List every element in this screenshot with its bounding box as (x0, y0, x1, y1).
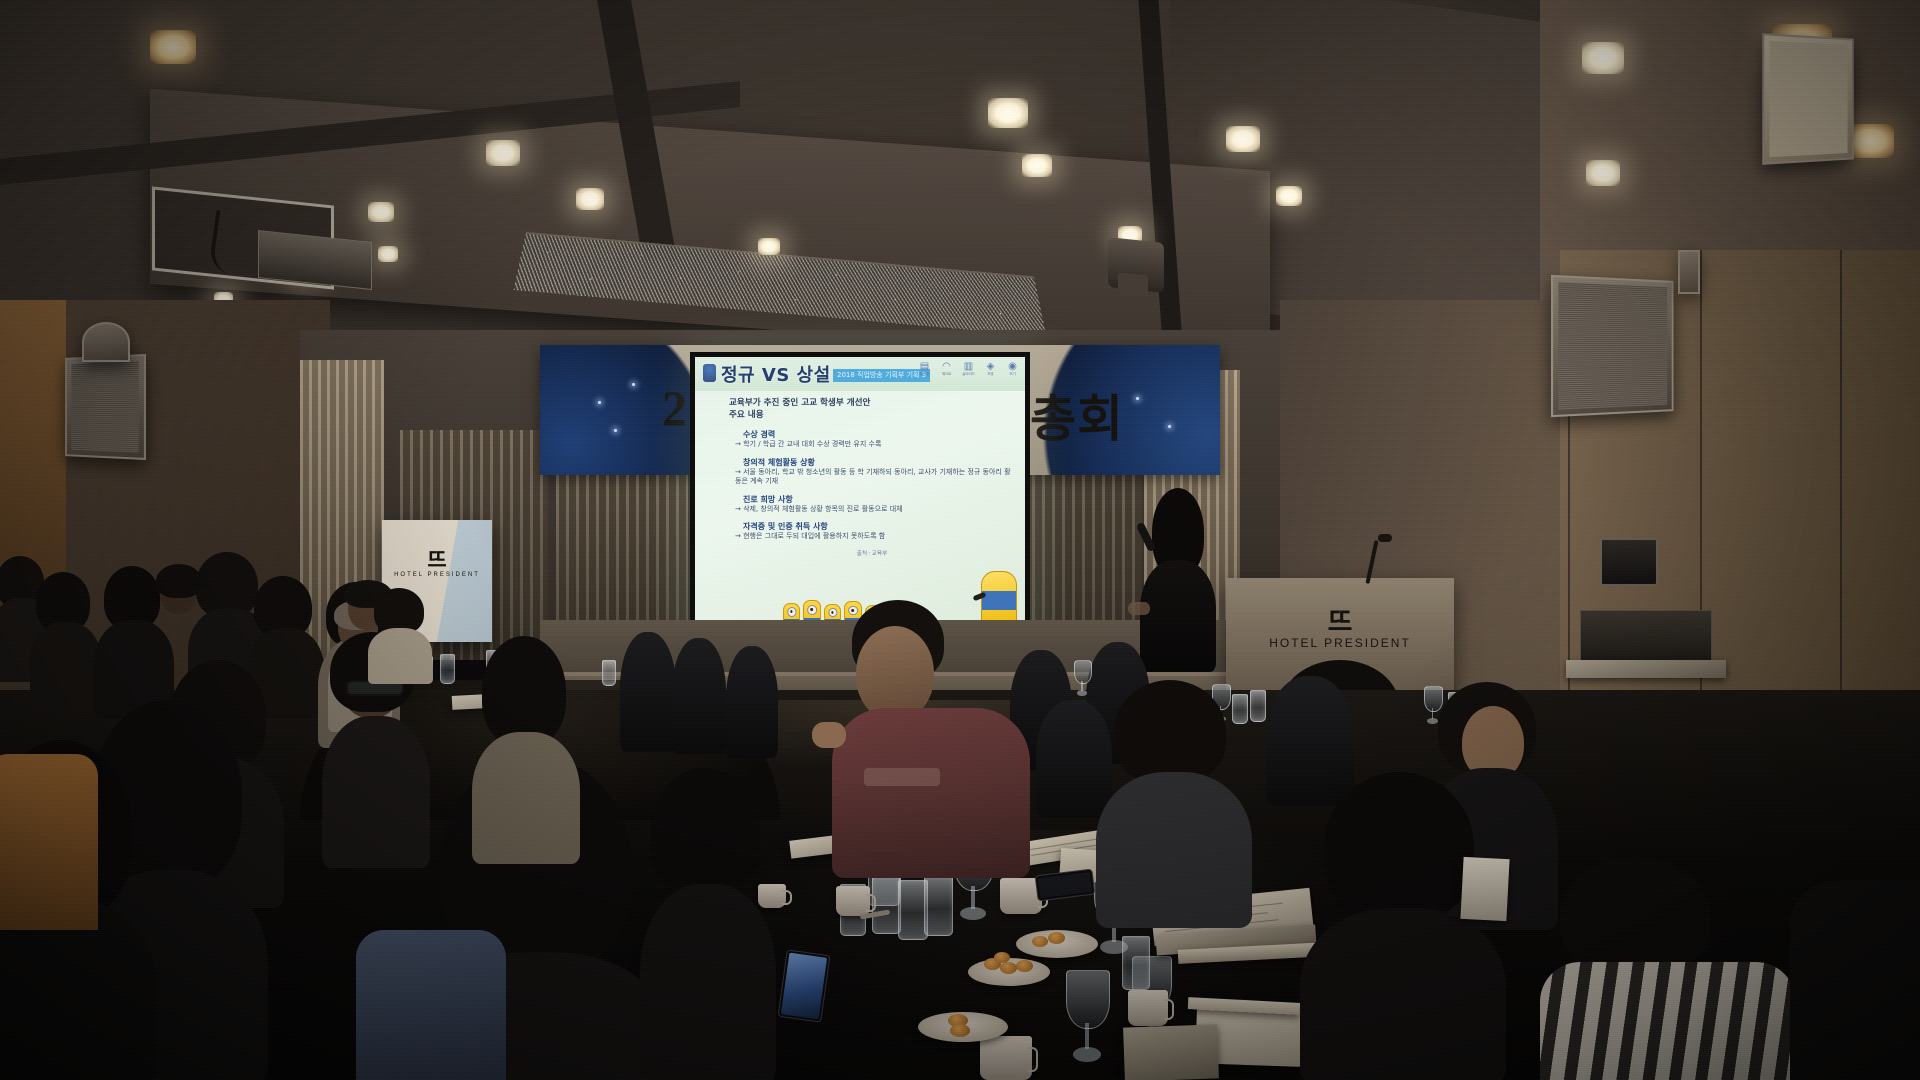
hair (1114, 680, 1226, 784)
window-switch-label: 창 전환 (918, 372, 931, 377)
wall-speaker-left (65, 354, 146, 460)
slide-bullet-heading: 진로 희망 사항 (743, 494, 1015, 505)
torso (640, 884, 776, 1080)
smartphone-screen (1038, 872, 1092, 898)
water-glass (872, 876, 901, 934)
banner-sparkle (598, 401, 601, 404)
audience-member-back (640, 768, 770, 1080)
water-glass (1250, 690, 1266, 722)
audience-member (150, 564, 210, 660)
chair-backrest (0, 754, 98, 930)
audience-member (30, 572, 100, 702)
macro-label: 매크로 (940, 372, 953, 377)
torso (472, 732, 580, 864)
goblet-bowl (1066, 970, 1110, 1029)
av-table (1566, 660, 1726, 678)
water-glass (1122, 936, 1150, 990)
hair (650, 768, 760, 898)
audience-member-far-right (1790, 880, 1920, 1080)
slide-bullet-detail: → 삭제, 창의적 체험활동 상황 항목의 진로 활동으로 대체 (735, 505, 1015, 515)
view-icon[interactable]: ◉ 보기 (1006, 361, 1019, 377)
wall-speaker-far-right (1762, 33, 1853, 165)
torso (368, 628, 432, 684)
slide-title: 정규 VS 상설 (721, 361, 831, 387)
goblet-bowl (1074, 660, 1092, 684)
smartphone-screen (781, 953, 827, 1020)
slide-bullet-group: 수상 경력 → 학기 / 학급 간 교내 대회 수상 경력만 유지 수록 (729, 429, 1015, 450)
speaker-mount-bracket (82, 322, 130, 362)
goblet-foot (1077, 690, 1088, 696)
minion-eye (807, 605, 817, 615)
torso (1300, 908, 1506, 1080)
slideshow-label: 슬라이드 (962, 372, 975, 377)
torso (1540, 962, 1796, 1080)
slideshow-icon[interactable]: ▥ 슬라이드 (962, 361, 975, 377)
view-glyph: ◉ (1006, 361, 1019, 372)
goblet-foot (960, 907, 986, 920)
slide-bullet-detail: → 서울 동아리, 학교 밖 청소년의 활동 등 학 기재하되 동아리, 교사가… (735, 468, 1015, 487)
slide-bullet-detail: → 학기 / 학급 간 교내 대회 수상 경력만 유지 수록 (735, 440, 1015, 450)
ceiling-downlight (486, 140, 520, 166)
torso (322, 716, 430, 868)
presenter-hand (1128, 602, 1150, 615)
hair (1324, 772, 1474, 922)
torso (356, 930, 506, 1080)
slide-bullet-heading: 창의적 체험활동 상황 (743, 457, 1015, 468)
ceiling-downlight (378, 246, 398, 262)
wine-goblet (1074, 660, 1090, 696)
banquet-chair (620, 632, 676, 752)
audience-member-in-orange-chair (0, 754, 98, 934)
speaker-grille (1558, 282, 1667, 409)
goblet-foot (1073, 1047, 1102, 1062)
presenter-torso (1140, 560, 1216, 672)
slide-bullet-group: 자격증 및 인증 취득 사항 → 현행은 그대로 두되 대입에 활용하지 못하도… (729, 521, 1015, 542)
slide-lead: 교육부가 추진 중인 고교 학생부 개선안 주요 내용 (729, 397, 1015, 421)
conference-room-photo: 2018 총회 정규 VS 상설 2018 직업방송 기획부 기획 3 ▤ 창 … (0, 0, 1920, 1080)
minion-eye (787, 607, 796, 616)
banner-sparkle (1136, 397, 1139, 400)
speaker-grille (71, 362, 138, 453)
ceiling-downlight (1582, 42, 1624, 74)
water-glass (924, 876, 953, 936)
slide-surface: 정규 VS 상설 2018 직업방송 기획부 기획 3 ▤ 창 전환 ◠ 매크로… (695, 357, 1025, 629)
window-switch-glyph: ▤ (918, 361, 931, 372)
ceiling-downlight (576, 188, 604, 210)
hair (156, 564, 202, 598)
hand-raised (812, 722, 846, 748)
wall-speaker-right (1551, 275, 1674, 417)
envelope (1123, 1024, 1219, 1080)
goblet-stem (971, 886, 974, 909)
banquet-chair (726, 646, 778, 758)
coffee-cup (980, 1036, 1032, 1080)
banner-sparkle (1168, 425, 1171, 428)
view-label: 보기 (1006, 372, 1019, 377)
hotel-logo-text: HOTEL PRESIDENT (394, 572, 480, 578)
slide-bullet-heading: 수상 경력 (743, 429, 1015, 440)
ceiling-camera (1108, 237, 1164, 293)
torso (1790, 880, 1920, 1080)
av-monitor (1600, 538, 1658, 586)
ceiling-downlight (1022, 154, 1052, 177)
slide-source-credit: 출처 : 교육부 (729, 549, 1015, 557)
cookie (1032, 936, 1048, 947)
torso (832, 708, 1030, 878)
slide-lead-line: 주요 내용 (729, 409, 1015, 421)
hotel-logo-text: HOTEL PRESIDENT (1269, 636, 1411, 650)
cookie (994, 952, 1010, 963)
cookie (1000, 962, 1017, 974)
hotel-logo-glyph: 뜨 (1328, 600, 1353, 639)
slide-badge: 2018 직업방송 기획부 기획 3 (833, 369, 930, 382)
water-glass (602, 660, 616, 686)
torso (1096, 772, 1252, 928)
window-switch-icon[interactable]: ▤ 창 전환 (918, 361, 931, 377)
audience-member-back (368, 588, 430, 674)
slide-bullet-heading: 자격증 및 인증 취득 사항 (743, 521, 1015, 532)
cookie (1016, 960, 1033, 972)
presenter-with-microphone (1130, 488, 1226, 668)
hair (482, 636, 566, 746)
protect-glyph: ◈ (984, 361, 997, 372)
ceiling-downlight (368, 202, 394, 222)
slide-bullet-group: 진로 희망 사항 → 삭제, 창의적 체험활동 상황 항목의 진로 활동으로 대… (729, 494, 1015, 515)
ceiling-downlight (1276, 186, 1302, 206)
slide-ribbon-icons: ▤ 창 전환 ◠ 매크로 ▥ 슬라이드 ◈ 보호 ◉ 보기 (918, 361, 1019, 377)
banner-sparkle (632, 383, 635, 386)
slide-bullet-group: 창의적 체험활동 상황 → 서울 동아리, 학교 밖 청소년의 활동 등 학 기… (729, 457, 1015, 487)
lectern-microphone-head (1378, 534, 1392, 542)
ceiling-downlight (988, 98, 1028, 128)
lectern-right: 뜨 HOTEL PRESIDENT (1226, 578, 1454, 706)
audience-member-right-striped (1540, 856, 1790, 1080)
speaker-grille (1769, 41, 1847, 157)
macro-glyph: ◠ (940, 361, 953, 372)
projection-screen: 정규 VS 상설 2018 직업방송 기획부 기획 3 ▤ 창 전환 ◠ 매크로… (690, 352, 1030, 634)
ceiling-downlight (1226, 126, 1260, 152)
ceiling-downlight (758, 238, 780, 255)
banner-sparkle (614, 429, 617, 432)
smartphone-held[interactable] (777, 949, 830, 1022)
coffee-cup (1128, 990, 1168, 1026)
audience-member-right (1096, 680, 1246, 920)
ceiling-downlight (1586, 160, 1620, 186)
head (856, 626, 934, 720)
macro-icon[interactable]: ◠ 매크로 (940, 361, 953, 377)
ceiling-downlight (150, 30, 196, 64)
wine-goblet (1066, 970, 1108, 1062)
slide-bullet-detail: → 현행은 그대로 두되 대입에 활용하지 못하도록 함 (735, 532, 1015, 542)
audience-member-right-back (1300, 772, 1500, 1080)
slide-lead-line: 교육부가 추진 중인 고교 학생부 개선안 (729, 397, 1015, 409)
protect-label: 보호 (984, 372, 997, 377)
audience-member-blue-sleeve (356, 930, 506, 1080)
coffee-cup (836, 886, 870, 916)
protect-icon[interactable]: ◈ 보호 (984, 361, 997, 377)
ceiling-mounted-speaker (1678, 250, 1700, 294)
shirt-graphic (864, 768, 940, 786)
water-glass (440, 654, 455, 684)
banner-title: 총회 (1030, 379, 1124, 451)
slideshow-glyph: ▥ (962, 361, 975, 372)
cookie (950, 1024, 970, 1037)
slide-logo-icon (703, 364, 716, 382)
man-in-maroon-sweater (818, 600, 1058, 870)
minion-eye (982, 572, 1001, 591)
name-badge (1460, 857, 1509, 921)
hair (1560, 856, 1710, 976)
banquet-chair (672, 638, 726, 754)
hotel-logo-glyph: 뜨 (427, 544, 446, 574)
audience-member-back (472, 636, 576, 856)
slide-body: 교육부가 추진 중인 고교 학생부 개선안 주요 내용 수상 경력 → 학기 /… (695, 393, 1025, 557)
goblet-stem (1085, 1023, 1088, 1049)
cookie (1048, 932, 1065, 944)
